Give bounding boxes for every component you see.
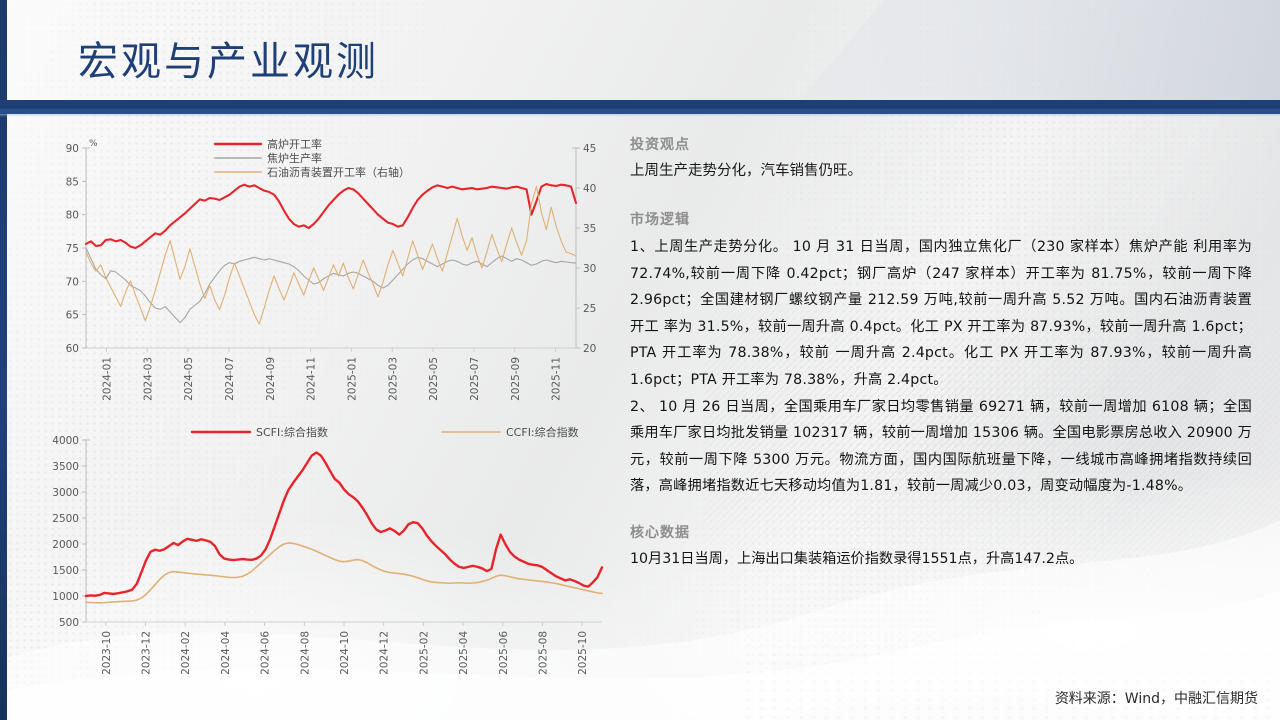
chart-operating-rates: 606570758085902025303540452024-012024-03… (40, 126, 620, 416)
svg-text:2024-10: 2024-10 (339, 631, 351, 675)
slide-header: 宏观与产业观测 (0, 0, 1280, 122)
svg-text:30: 30 (583, 263, 596, 275)
svg-text:1000: 1000 (52, 591, 79, 603)
header-divider-band (0, 100, 1280, 114)
svg-text:1500: 1500 (52, 565, 79, 577)
svg-text:SCFI:综合指数: SCFI:综合指数 (256, 425, 328, 439)
svg-text:80: 80 (66, 210, 79, 222)
svg-text:40: 40 (583, 183, 596, 195)
svg-text:2025-09: 2025-09 (510, 357, 522, 401)
svg-text:2024-01: 2024-01 (101, 357, 113, 401)
svg-text:85: 85 (66, 176, 79, 188)
page-title: 宏观与产业观测 (78, 36, 379, 88)
section-spacer (630, 500, 1252, 522)
svg-text:2025-03: 2025-03 (387, 357, 399, 401)
svg-text:2025-06: 2025-06 (498, 631, 510, 675)
svg-text:2025-10: 2025-10 (577, 631, 589, 675)
svg-text:60: 60 (66, 343, 79, 355)
svg-text:2024-07: 2024-07 (224, 357, 236, 401)
svg-text:3000: 3000 (52, 487, 79, 499)
svg-text:2023-10: 2023-10 (101, 631, 113, 675)
svg-text:%: % (89, 139, 98, 149)
svg-text:高炉开工率: 高炉开工率 (267, 137, 322, 151)
svg-text:焦炉生产率: 焦炉生产率 (267, 151, 322, 165)
core-data-text: 10月31日当周，上海出口集装箱运价指数录得1551点，升高147.2点。 (630, 547, 1252, 571)
svg-text:45: 45 (583, 143, 596, 155)
svg-text:2024-09: 2024-09 (265, 357, 277, 401)
charts-column: 606570758085902025303540452024-012024-03… (40, 126, 620, 692)
svg-text:2024-08: 2024-08 (299, 631, 311, 675)
svg-text:2024-04: 2024-04 (220, 631, 232, 675)
svg-text:35: 35 (583, 223, 596, 235)
commentary-column: 投资观点 上周生产走势分化，汽车销售仍旺。 市场逻辑 1、上周生产走势分化。 1… (630, 134, 1252, 679)
chart-operating-rates-svg: 606570758085902025303540452024-012024-03… (40, 126, 620, 416)
svg-text:2025-01: 2025-01 (346, 357, 358, 401)
svg-text:2025-02: 2025-02 (418, 631, 430, 675)
svg-text:65: 65 (66, 310, 79, 322)
svg-text:2024-05: 2024-05 (183, 357, 195, 401)
section-heading-investment-view: 投资观点 (630, 134, 1252, 154)
svg-text:石油沥青装置开工率（右轴）: 石油沥青装置开工率（右轴） (267, 165, 410, 179)
market-logic-paragraph-1: 1、上周生产走势分化。 10 月 31 日当周，国内独立焦化厂（230 家样本）… (630, 234, 1252, 394)
slide-root: 宏观与产业观测 606570758085902025303540452024-0… (0, 0, 1280, 720)
svg-text:2025-07: 2025-07 (469, 357, 481, 401)
svg-text:2024-03: 2024-03 (142, 357, 154, 401)
svg-text:4000: 4000 (52, 435, 79, 447)
svg-text:75: 75 (66, 243, 79, 255)
svg-text:2025-08: 2025-08 (537, 631, 549, 675)
svg-text:2024-11: 2024-11 (306, 357, 318, 401)
section-heading-core-data: 核心数据 (630, 522, 1252, 542)
chart-freight-indices: 50010001500200025003000350040002023-1020… (40, 418, 620, 688)
svg-text:90: 90 (66, 143, 79, 155)
investment-view-text: 上周生产走势分化，汽车销售仍旺。 (630, 159, 1252, 183)
market-logic-paragraph-2: 2、 10 月 26 日当周，全国乘用车厂家日均零售销量 69271 辆，较前一… (630, 394, 1252, 500)
header-corner-shape (680, 0, 1280, 114)
svg-text:2500: 2500 (52, 513, 79, 525)
svg-text:2023-12: 2023-12 (141, 631, 153, 675)
svg-text:500: 500 (59, 617, 79, 629)
svg-text:70: 70 (66, 276, 79, 288)
svg-text:25: 25 (583, 303, 596, 315)
svg-text:CCFI:综合指数: CCFI:综合指数 (506, 425, 579, 439)
source-footnote: 资料来源：Wind，中融汇信期货 (1055, 688, 1258, 708)
svg-text:2024-12: 2024-12 (379, 631, 391, 675)
svg-text:2025-04: 2025-04 (458, 631, 470, 675)
chart-freight-indices-svg: 50010001500200025003000350040002023-1020… (40, 418, 620, 688)
svg-text:2000: 2000 (52, 539, 79, 551)
svg-text:2025-11: 2025-11 (551, 357, 563, 401)
section-heading-market-logic: 市场逻辑 (630, 209, 1252, 229)
svg-text:20: 20 (583, 343, 596, 355)
svg-text:2024-06: 2024-06 (260, 631, 272, 675)
svg-text:3500: 3500 (52, 461, 79, 473)
svg-text:2025-05: 2025-05 (428, 357, 440, 401)
svg-text:2024-02: 2024-02 (180, 631, 192, 675)
